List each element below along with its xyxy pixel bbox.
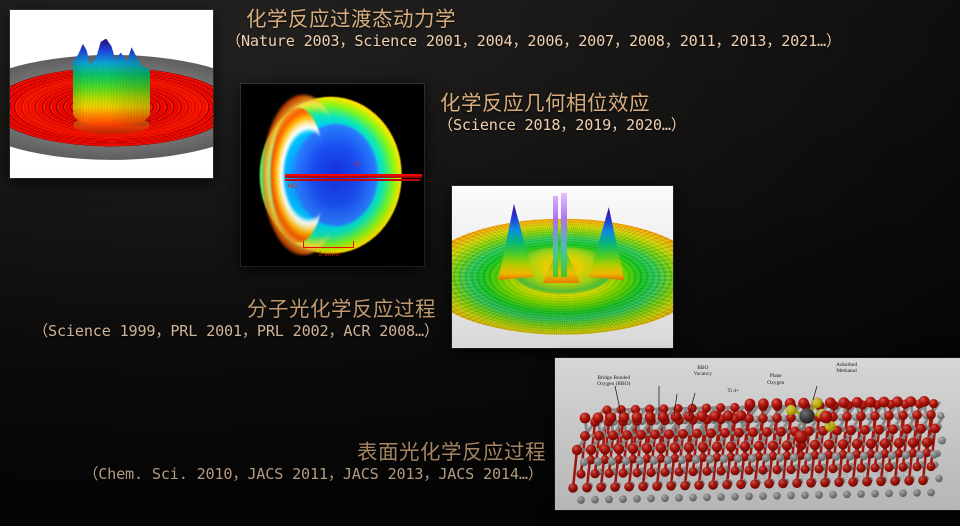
text-block-surface-photochemistry: 表面光化学反应过程 （Chem. Sci. 2010，JACS 2011，JAC… <box>78 441 548 483</box>
surface-plot-3 <box>452 186 673 348</box>
center-needle-1 <box>553 196 559 277</box>
velocity-map-image: H HD 5 km/s <box>241 84 424 266</box>
heading-geometric-phase: 化学反应几何相位效应 <box>438 92 686 116</box>
vmi-red-arrow-upper <box>285 174 422 176</box>
watermark: 中国科学院大连化学物理研究所 <box>636 467 944 491</box>
refs-transition-state: （Nature 2003，Science 2001，2004，2006，2007… <box>226 32 841 50</box>
surface-plot-1 <box>10 10 213 178</box>
label-bbo-vacancy: BBO Vacancy <box>668 365 737 378</box>
heading-transition-state: 化学反应过渡态动力学 <box>226 8 841 32</box>
refs-geometric-phase: （Science 2018，2019，2020…） <box>438 116 686 134</box>
figure-tio2-surface-model: Bridge Bonded Oxygen (BBO) BBO Vacancy T… <box>555 358 960 510</box>
label-ti-cation: Ti 4+ <box>713 388 754 395</box>
vmi-label-h: H <box>354 161 359 168</box>
refs-surface-photochemistry: （Chem. Sci. 2010，JACS 2011，JACS 2013，JAC… <box>78 465 548 483</box>
tio2-slab: Bridge Bonded Oxygen (BBO) BBO Vacancy T… <box>555 358 960 510</box>
vmi-scale-bar <box>303 241 354 248</box>
refs-molecular-photochemistry: （Science 1999，PRL 2001，PRL 2002，ACR 2008… <box>18 322 454 340</box>
figure-ion-velocity-map: H HD 5 km/s <box>241 84 424 266</box>
heading-molecular-photochemistry: 分子光化学反应过程 <box>18 298 454 322</box>
vmi-red-arrow-lower <box>285 179 420 181</box>
label-bridge-bonded-oxygen: Bridge Bonded Oxygen (BBO) <box>563 375 664 388</box>
text-block-transition-state: 化学反应过渡态动力学 （Nature 2003，Science 2001，200… <box>226 8 841 50</box>
heading-surface-photochemistry: 表面光化学反应过程 <box>78 441 548 465</box>
vmi-label-hd: HD <box>288 183 297 190</box>
center-needle-2 <box>561 193 567 277</box>
vmi-scale-label: 5 km/s <box>296 251 362 258</box>
text-block-molecular-photochemistry: 分子光化学反应过程 （Science 1999，PRL 2001，PRL 200… <box>18 298 454 340</box>
rainbow-peak-column <box>73 39 150 126</box>
figure-geometric-phase-surface <box>452 186 673 348</box>
slide-canvas: H HD 5 km/s <box>0 0 960 526</box>
label-adsorbed-methanol: Adsorbed Methanol <box>806 362 887 375</box>
text-block-geometric-phase: 化学反应几何相位效应 （Science 2018，2019，2020…） <box>438 92 686 134</box>
label-plane-oxygen: Plane Oxygen <box>741 373 810 386</box>
figure-transition-state-surface <box>10 10 213 178</box>
